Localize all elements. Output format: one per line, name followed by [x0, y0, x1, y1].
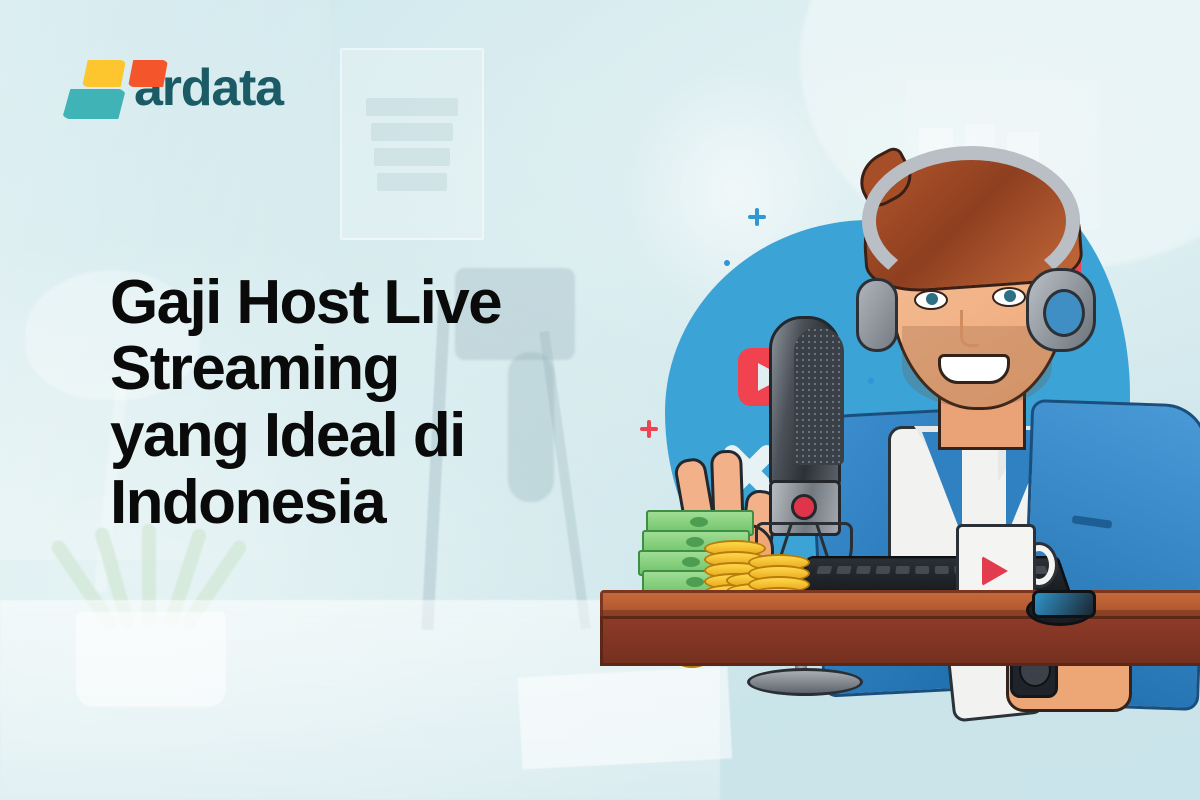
page-title-line-3: yang Ideal di	[110, 403, 630, 470]
logo-shape-yellow	[82, 60, 126, 87]
page-title-line-2: Streaming	[110, 336, 630, 403]
logo-shape-teal	[62, 89, 126, 119]
page-title-line-4: Indonesia	[110, 470, 630, 537]
nose	[960, 310, 979, 347]
logo-mark-icon	[62, 58, 136, 118]
dot-decoration	[724, 260, 730, 266]
page-title: Gaji Host Live Streaming yang Ideal di I…	[110, 270, 630, 538]
headphone-earcup-right	[1026, 268, 1096, 352]
mic-body	[769, 316, 841, 490]
wooden-desk	[600, 590, 1200, 710]
play-icon	[982, 556, 1008, 586]
mic-grille	[794, 327, 844, 465]
headphone-earcup-left	[856, 278, 898, 352]
phone-icon	[1032, 590, 1096, 618]
logo-shape-orange	[128, 60, 168, 87]
cover-banner: ardata Gaji Host Live Streaming yang Ide…	[0, 0, 1200, 800]
live-streaming-host-illustration	[620, 120, 1200, 800]
ardata-logo[interactable]: ardata	[62, 58, 283, 118]
sparkle-icon	[640, 420, 658, 438]
background-framed-poster	[340, 48, 484, 240]
page-title-line-1: Gaji Host Live	[110, 270, 630, 337]
smiling-mouth	[938, 354, 1010, 384]
desk-front-panel	[600, 616, 1200, 666]
sparkle-icon	[748, 208, 766, 226]
